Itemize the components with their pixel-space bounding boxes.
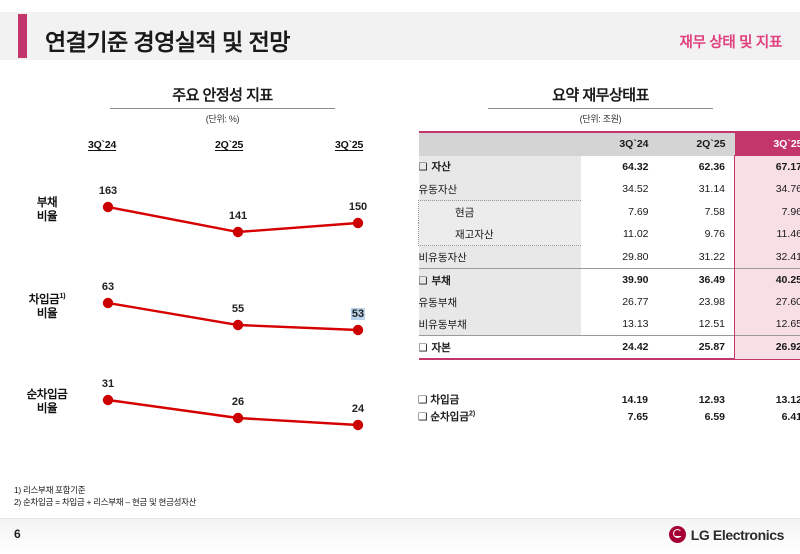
sparkline-borrowings-ratio: [90, 281, 390, 361]
bullet-square-icon: ❑: [418, 394, 427, 406]
table-col-header-3q24: 3Q`24: [581, 132, 658, 156]
chart-row-label-debt-ratio-line1: 부채: [37, 197, 57, 209]
footnote-2: 2) 순차입금 = 차입금 + 리스부채 – 현금 및 현금성자산: [14, 496, 196, 508]
stability-indicators-charts: 3Q`24 2Q`25 3Q`25 부채 비율 163 141 150 차입금1…: [0, 0, 410, 553]
chart-row-label-net-borrowings-line2: 비율: [37, 403, 57, 415]
data-label-net-borrowings-2: 24: [352, 403, 364, 415]
right-section-unit: (단위: 조원): [488, 112, 713, 125]
cell-3q25: 26.92: [735, 336, 800, 360]
row-label: 비유동부채: [419, 319, 467, 331]
bullet-square-icon: ❑: [419, 343, 428, 354]
right-section-header: 요약 재무상태표 (단위: 조원): [488, 84, 713, 125]
right-section-rule: [488, 108, 713, 109]
chart-col-header-1: 2Q`25: [215, 139, 243, 151]
data-label-net-borrowings-0: 31: [102, 378, 114, 390]
row-label: 유동자산: [419, 184, 458, 196]
row-label: 비유동자산: [419, 252, 467, 264]
table-row[interactable]: 비유동부채 13.13 12.51 12.65: [419, 313, 800, 336]
footnotes: 1) 리스부채 포함기준 2) 순차입금 = 차입금 + 리스부채 – 현금 및…: [14, 484, 196, 509]
table-col-header-2q25: 2Q`25: [658, 132, 735, 156]
table-row[interactable]: 유동부채 26.77 23.98 27.60: [419, 291, 800, 313]
table-col-header-name: [419, 132, 581, 156]
row-label: 유동부채: [419, 297, 458, 309]
data-label-borrowings-0: 63: [102, 281, 114, 293]
lg-logo-icon: [669, 526, 686, 543]
cell-2q25: 9.76: [658, 223, 735, 246]
cell-3q24: 14.19: [580, 391, 657, 408]
footnote-1: 1) 리스부채 포함기준: [14, 484, 196, 496]
cell-3q24: 7.65: [580, 408, 657, 425]
brand-logo: LG Electronics: [669, 526, 784, 543]
row-label: 재고자산: [455, 229, 494, 241]
chart-row-label-borrowings-ratio: 차입금1) 비율: [8, 291, 86, 322]
cell-2q25: 25.87: [658, 336, 735, 360]
summary-row-net-borrowings[interactable]: ❑ 순차입금2) 7.65 6.59 6.41: [418, 408, 800, 425]
cell-3q24: 64.32: [581, 156, 658, 179]
chart-row-label-debt-ratio: 부채 비율: [8, 196, 86, 225]
table-row[interactable]: 비유동자산 29.80 31.22 32.41: [419, 246, 800, 269]
table-row[interactable]: ❑자본 24.42 25.87 26.92: [419, 336, 800, 360]
cell-3q24: 11.02: [581, 223, 658, 246]
cell-3q24: 34.52: [581, 178, 658, 201]
cell-3q24: 13.13: [581, 313, 658, 336]
row-label: 자산: [431, 161, 450, 173]
cell-3q25: 13.12: [734, 391, 800, 408]
header-subtitle: 재무 상태 및 지표: [680, 31, 782, 52]
chart-row-label-borrowings-footnote: 1): [59, 291, 65, 300]
cell-2q25: 36.49: [658, 269, 735, 292]
cell-3q25: 6.41: [734, 408, 800, 425]
row-label: 자본: [431, 342, 450, 354]
table-row[interactable]: ❑부채 39.90 36.49 40.25: [419, 269, 800, 292]
cell-3q24: 7.69: [581, 201, 658, 224]
chart-col-header-2: 3Q`25: [335, 139, 363, 151]
cell-3q24: 26.77: [581, 291, 658, 313]
data-label-debt-1: 141: [229, 210, 247, 222]
slide-root: 연결기준 경영실적 및 전망 재무 상태 및 지표 주요 안정성 지표 (단위:…: [0, 0, 800, 553]
row-label: 차입금: [430, 394, 459, 406]
table-row[interactable]: ❑자산 64.32 62.36 67.17: [419, 156, 800, 179]
data-label-net-borrowings-1: 26: [232, 396, 244, 408]
bullet-square-icon: ❑: [419, 162, 428, 173]
cell-3q24: 24.42: [581, 336, 658, 360]
chart-row-label-net-borrowings-line1: 순차입금: [27, 389, 68, 401]
page-number: 6: [14, 527, 21, 541]
cell-3q25: 67.17: [735, 156, 800, 179]
cell-3q24: 39.90: [581, 269, 658, 292]
table-row[interactable]: 재고자산 11.02 9.76 11.46: [419, 223, 800, 246]
chart-col-header-0: 3Q`24: [88, 139, 116, 151]
sparkline-debt-ratio: [90, 185, 390, 265]
data-label-debt-0: 163: [99, 185, 117, 197]
bullet-square-icon: ❑: [418, 411, 427, 423]
cell-3q25: 27.60: [735, 291, 800, 313]
row-label: 현금: [455, 207, 474, 219]
summary-row-borrowings[interactable]: ❑ 차입금 14.19 12.93 13.12: [418, 391, 800, 408]
cell-2q25: 62.36: [658, 156, 735, 179]
row-label: 순차입금: [430, 411, 469, 423]
cell-2q25: 12.51: [658, 313, 735, 336]
table-row[interactable]: 현금 7.69 7.58 7.96: [419, 201, 800, 224]
data-label-debt-2: 150: [349, 201, 367, 213]
brand-name: LG Electronics: [691, 527, 784, 543]
cell-3q25: 12.65: [735, 313, 800, 336]
chart-row-label-debt-ratio-line2: 비율: [37, 211, 57, 223]
cell-2q25: 23.98: [658, 291, 735, 313]
sparkline-net-borrowings-ratio: [90, 378, 390, 458]
borrowings-summary-table: ❑ 차입금 14.19 12.93 13.12 ❑ 순차입금2) 7.65 6.…: [418, 391, 784, 425]
row-label-footnote: 2): [469, 411, 475, 418]
table-row[interactable]: 유동자산 34.52 31.14 34.76: [419, 178, 800, 201]
cell-2q25: 6.59: [657, 408, 734, 425]
data-label-borrowings-2[interactable]: 53: [351, 308, 365, 320]
cell-2q25: 12.93: [657, 391, 734, 408]
cell-3q25: 11.46: [735, 223, 800, 246]
cell-2q25: 31.14: [658, 178, 735, 201]
cell-3q25: 34.76: [735, 178, 800, 201]
chart-row-label-borrowings-ratio-line2: 비율: [37, 308, 57, 320]
cell-3q25: 32.41: [735, 246, 800, 269]
data-label-borrowings-1: 55: [232, 303, 244, 315]
cell-3q25: 7.96: [735, 201, 800, 224]
balance-sheet-table: 3Q`24 2Q`25 3Q`25 ❑자산 64.32 62.36 67.17 …: [418, 131, 784, 360]
cell-3q24: 29.80: [581, 246, 658, 269]
right-section-title: 요약 재무상태표: [488, 84, 713, 105]
bullet-square-icon: ❑: [419, 276, 428, 287]
cell-2q25: 31.22: [658, 246, 735, 269]
chart-row-label-net-borrowings-ratio: 순차입금 비율: [8, 388, 86, 417]
table-col-header-3q25: 3Q`25: [735, 132, 800, 156]
table-header-row: 3Q`24 2Q`25 3Q`25: [419, 132, 800, 156]
chart-row-label-borrowings-ratio-line1: 차입금: [29, 294, 60, 306]
cell-2q25: 7.58: [658, 201, 735, 224]
cell-3q25: 40.25: [735, 269, 800, 292]
row-label: 부채: [431, 275, 450, 287]
